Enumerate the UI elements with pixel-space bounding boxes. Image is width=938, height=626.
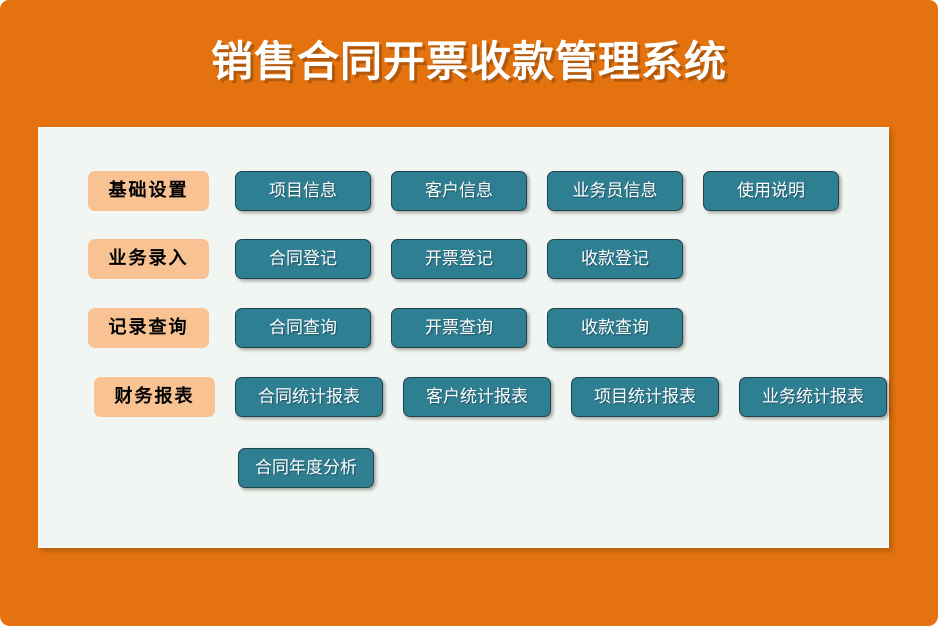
button-contract-annual-analysis[interactable]: 合同年度分析 xyxy=(238,448,374,488)
main-menu-panel: 基础设置 项目信息 客户信息 业务员信息 使用说明 业务录入 合同登记 开票登记… xyxy=(38,127,889,548)
page-title: 销售合同开票收款管理系统 xyxy=(0,36,938,88)
button-invoice-entry[interactable]: 开票登记 xyxy=(391,239,527,279)
application-window: 销售合同开票收款管理系统 基础设置 项目信息 客户信息 业务员信息 使用说明 业… xyxy=(0,0,938,626)
button-usage-instructions[interactable]: 使用说明 xyxy=(703,171,839,211)
button-payment-entry[interactable]: 收款登记 xyxy=(547,239,683,279)
menu-row-financial-reports: 财务报表 合同统计报表 客户统计报表 项目统计报表 业务统计报表 xyxy=(94,376,887,418)
category-label-business-entry: 业务录入 xyxy=(88,239,209,279)
category-label-record-query: 记录查询 xyxy=(88,308,209,348)
button-contract-query[interactable]: 合同查询 xyxy=(235,308,371,348)
category-label-basic-settings: 基础设置 xyxy=(88,171,209,211)
button-customer-info[interactable]: 客户信息 xyxy=(391,171,527,211)
menu-row-business-entry: 业务录入 合同登记 开票登记 收款登记 xyxy=(88,238,683,280)
button-payment-query[interactable]: 收款查询 xyxy=(547,308,683,348)
button-customer-statistics-report[interactable]: 客户统计报表 xyxy=(403,377,551,417)
category-label-financial-reports: 财务报表 xyxy=(94,377,215,417)
menu-row-annual-analysis: 合同年度分析 xyxy=(238,447,374,489)
button-contract-statistics-report[interactable]: 合同统计报表 xyxy=(235,377,383,417)
button-project-statistics-report[interactable]: 项目统计报表 xyxy=(571,377,719,417)
button-project-info[interactable]: 项目信息 xyxy=(235,171,371,211)
button-contract-entry[interactable]: 合同登记 xyxy=(235,239,371,279)
button-salesperson-info[interactable]: 业务员信息 xyxy=(547,171,683,211)
button-business-statistics-report[interactable]: 业务统计报表 xyxy=(739,377,887,417)
menu-row-record-query: 记录查询 合同查询 开票查询 收款查询 xyxy=(88,307,683,349)
button-invoice-query[interactable]: 开票查询 xyxy=(391,308,527,348)
menu-row-basic-settings: 基础设置 项目信息 客户信息 业务员信息 使用说明 xyxy=(88,170,839,212)
